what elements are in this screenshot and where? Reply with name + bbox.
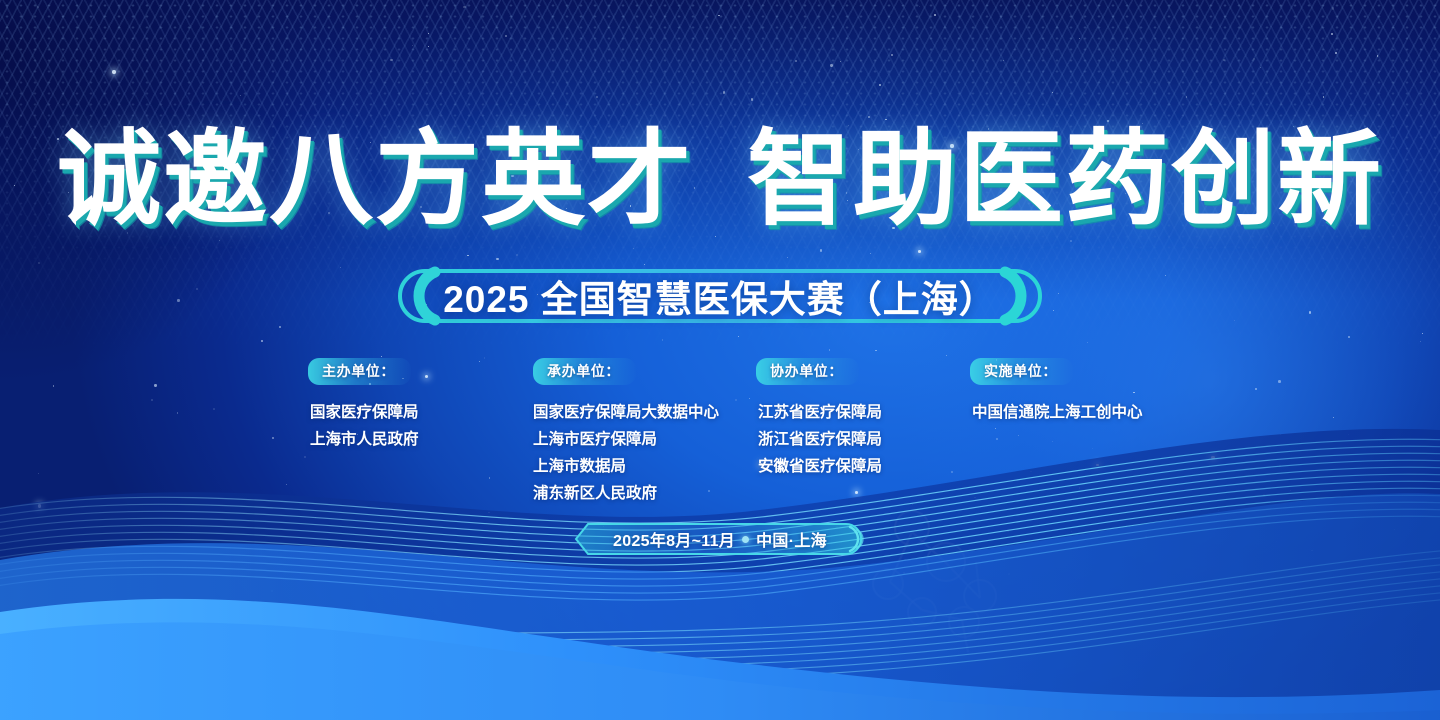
organizer-list: 江苏省医疗保障局 浙江省医疗保障局 安徽省医疗保障局 — [758, 399, 978, 480]
page-title: 诚邀八方英才智助医药创新 — [0, 128, 1440, 232]
list-item: 国家医疗保障局大数据中心 — [533, 399, 765, 426]
list-item: 安徽省医疗保障局 — [758, 453, 978, 480]
location-text: 中国·上海 — [756, 527, 827, 551]
list-item: 上海市数据局 — [533, 453, 765, 480]
list-item: 浙江省医疗保障局 — [758, 426, 978, 453]
organizer-list: 国家医疗保障局大数据中心 上海市医疗保障局 上海市数据局 浦东新区人民政府 — [533, 399, 765, 507]
organizer-column-coorganizer: 协办单位： 江苏省医疗保障局 浙江省医疗保障局 安徽省医疗保障局 — [748, 358, 978, 480]
organizer-badge: 协办单位： — [756, 358, 859, 385]
list-item: 江苏省医疗保障局 — [758, 399, 978, 426]
subtitle-text: 2025 全国智慧医保大赛（上海） — [395, 266, 1045, 326]
list-item: 上海市人民政府 — [310, 426, 530, 453]
separator-dot-icon — [742, 536, 749, 543]
list-item: 上海市医疗保障局 — [533, 426, 765, 453]
list-item: 中国信通院上海工创中心 — [972, 399, 1222, 426]
organizer-list: 国家医疗保障局 上海市人民政府 — [310, 399, 530, 453]
banner-content: 诚邀八方英才智助医药创新 2025 全国智慧医保大赛（上海） — [0, 0, 1440, 720]
organizer-column-executor: 实施单位： 中国信通院上海工创中心 — [962, 358, 1222, 426]
list-item: 国家医疗保障局 — [310, 399, 530, 426]
organizer-column-host: 主办单位： 国家医疗保障局 上海市人民政府 — [300, 358, 530, 453]
organizer-badge: 主办单位： — [308, 358, 411, 385]
date-location-text: 2025年8月~11月 中国·上海 — [574, 522, 866, 556]
organizer-badge: 实施单位： — [970, 358, 1073, 385]
title-part-right: 智助医药创新 — [747, 122, 1383, 238]
title-part-left: 诚邀八方英才 — [57, 122, 693, 238]
list-item: 浦东新区人民政府 — [533, 480, 765, 507]
subtitle-pill: 2025 全国智慧医保大赛（上海） — [395, 266, 1045, 326]
organizer-list: 中国信通院上海工创中心 — [972, 399, 1222, 426]
promo-banner: 诚邀八方英才智助医药创新 2025 全国智慧医保大赛（上海） — [0, 0, 1440, 720]
organizer-badge: 承办单位： — [533, 358, 636, 385]
date-location-pill: 2025年8月~11月 中国·上海 — [574, 522, 866, 556]
organizer-column-organizer: 承办单位： 国家医疗保障局大数据中心 上海市医疗保障局 上海市数据局 浦东新区人… — [525, 358, 765, 507]
organizers-section: 主办单位： 国家医疗保障局 上海市人民政府 承办单位： 国家医疗保障局大数据中心… — [0, 358, 1440, 508]
date-text: 2025年8月~11月 — [613, 527, 735, 551]
